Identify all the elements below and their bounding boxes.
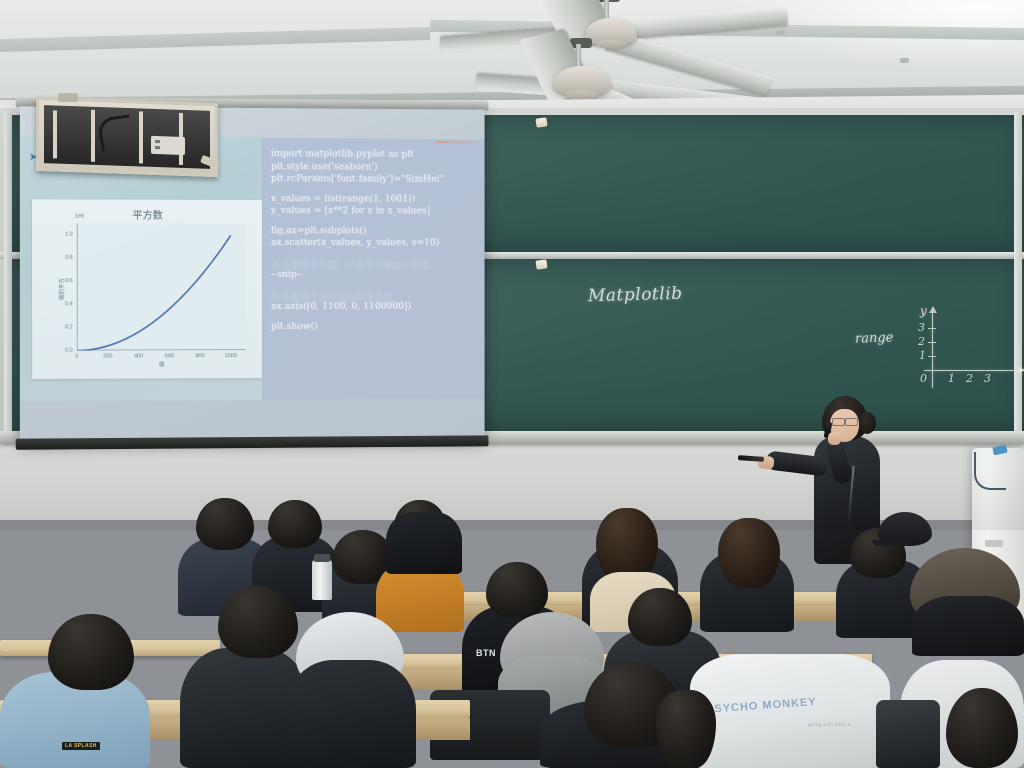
projector-cage — [36, 97, 218, 177]
slide-accent-bar — [435, 141, 482, 143]
chart-y-tick: 0.0 — [65, 348, 73, 354]
chart-x-tick: 600 — [165, 353, 174, 359]
student-head-long-hair — [596, 508, 658, 582]
slide-content: ➤ 绘制大量的点(自动计算数据) 平方数 1e6 值的平方 值 02004006… — [20, 137, 485, 402]
code-line: fig,ax=plt.subplots() — [271, 225, 367, 236]
code-line: import matplotlib.pyplot as plt — [271, 148, 414, 160]
chart-title: 平方数 — [32, 206, 262, 222]
slide-code-panel: import matplotlib.pyplot as pltplt.style… — [262, 138, 485, 400]
chalkboard-edge — [4, 112, 12, 434]
water-bottle — [312, 560, 332, 600]
axis-y-tick — [928, 328, 936, 329]
code-line: ax.axis([0, 1100, 0, 1100000]) — [271, 301, 411, 312]
student-body — [912, 596, 1024, 656]
chart-x-tick: 400 — [134, 353, 143, 359]
chalk-text-matplotlib: Matplotlib — [588, 284, 683, 306]
chart-x-tick: 0 — [75, 354, 78, 360]
axis-x-number: 2 — [966, 372, 973, 385]
chart-x-tick: 200 — [103, 353, 112, 359]
code-line: --snip-- — [271, 269, 303, 280]
chart-exponent-label: 1e6 — [75, 214, 84, 220]
cage-bar — [139, 111, 143, 163]
code-line: y_values = [x**2 for x in x_values] — [271, 205, 430, 216]
ceiling-fixture — [776, 30, 785, 35]
code-line: plt.rcParams['font.family']="SimHei" — [271, 173, 444, 185]
student-head — [48, 614, 134, 690]
axis-y-number: 1 — [919, 349, 926, 362]
axis-y-arrowhead — [929, 306, 937, 313]
axis-x-arrowhead — [1018, 366, 1024, 374]
projector-indicator — [155, 140, 160, 143]
student-head — [196, 498, 254, 550]
code-line: plt.show() — [271, 320, 318, 331]
axis-x-number: 3 — [984, 372, 991, 385]
bottle-cap — [314, 554, 330, 562]
slide-chart: 平方数 1e6 值的平方 值 020040060080010000.00.20.… — [32, 199, 262, 379]
student-body — [386, 512, 462, 574]
student-head — [946, 688, 1018, 768]
chart-y-tick: 1.0 — [65, 232, 73, 238]
backpack — [876, 700, 940, 768]
chart-y-tick: 0.2 — [65, 324, 73, 330]
code-line: x_values = list(range(1, 1001)) — [271, 193, 415, 204]
student-head — [486, 562, 548, 618]
chart-x-tick: 800 — [195, 353, 204, 359]
axis-y-number: 3 — [918, 321, 925, 334]
axis-y-number: 2 — [918, 335, 925, 348]
student-head — [268, 500, 322, 548]
student-head-long-hair — [718, 518, 780, 588]
cage-bar — [53, 110, 57, 158]
projector-ceiling-mount — [58, 93, 78, 102]
garment-brand-tag: LA SPLASH — [62, 742, 100, 750]
code-line: plt.style.use('seaborn') — [271, 161, 378, 172]
student-head — [218, 586, 298, 658]
axis-x-number: 1 — [948, 372, 955, 385]
student-head — [656, 690, 716, 768]
student-body — [286, 660, 416, 768]
chart-plot-area: 值 020040060080010000.00.20.40.60.81.0 — [77, 224, 246, 351]
instructor-hair-tie — [858, 412, 876, 434]
chart-y-tick: 0.4 — [65, 301, 73, 307]
fan-light-cap — [596, 40, 626, 49]
student-shirt-text: BTN — [476, 648, 496, 658]
instructor-glasses — [845, 418, 858, 426]
wall-shadow — [0, 470, 1024, 530]
axis-y-label: y — [920, 304, 927, 318]
code-line: ax.scatter(x_values, y_values, s=10) — [271, 237, 439, 248]
podium-control-panel — [985, 540, 1003, 547]
chalk-piece — [535, 117, 547, 127]
instructor-hand — [828, 432, 841, 445]
chalk-text-range: range — [855, 330, 894, 346]
cap-brim — [872, 540, 912, 546]
projector-indicator — [155, 146, 160, 149]
cage-bar — [91, 110, 95, 162]
student-head — [628, 588, 692, 646]
axis-y-tick — [928, 342, 936, 343]
ceiling-fixture — [900, 58, 909, 63]
hoodie-subtext: going with nature — [808, 722, 851, 727]
chart-y-tick: 0.8 — [65, 255, 73, 261]
instructor-glasses — [832, 418, 845, 426]
fan-downrod — [604, 0, 609, 20]
axis-y-tick — [928, 356, 936, 357]
chart-y-tick: 0.6 — [65, 278, 73, 284]
axis-y-line — [932, 312, 933, 388]
chalk-axis-diagram: y 3 2 1 0 1 2 3 — [918, 308, 1024, 392]
chalk-piece — [535, 259, 547, 269]
fan-mount — [598, 0, 620, 2]
axis-x-line — [924, 370, 1024, 371]
classroom-scene: Matplotlib range y 3 2 1 0 1 2 3 ➤ 绘制大量的… — [0, 0, 1024, 768]
chart-curve — [77, 224, 246, 351]
chart-x-tick: 1000 — [225, 353, 237, 359]
axis-origin-number: 0 — [920, 372, 927, 385]
chart-x-axis-label: 值 — [159, 360, 165, 368]
